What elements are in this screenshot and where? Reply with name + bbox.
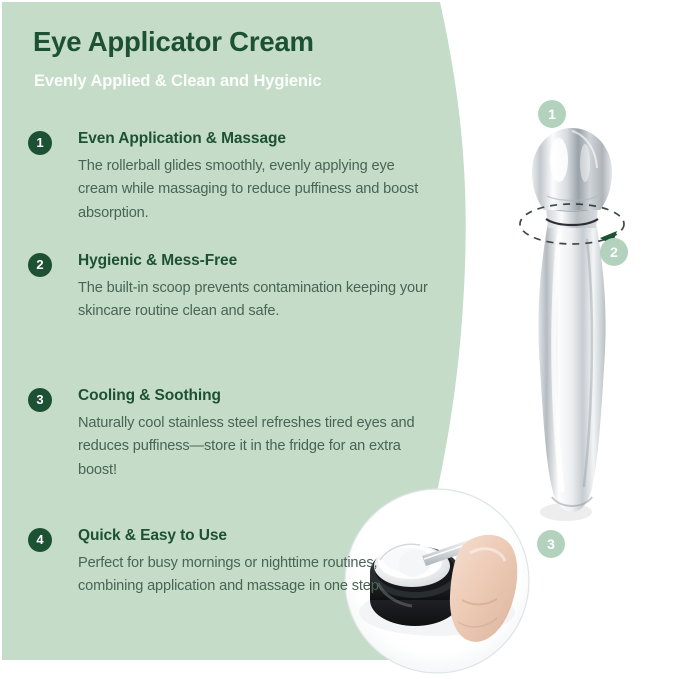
feature-number-badge-2: 2 (28, 253, 52, 277)
feature-heading-4: Quick & Easy to Use (78, 527, 428, 545)
feature-item-2: 2 Hygienic & Mess-Free The built-in scoo… (28, 252, 428, 324)
product-callout-3: 3 (537, 530, 565, 558)
feature-item-3: 3 Cooling & Soothing Naturally cool stai… (28, 387, 428, 483)
applicator-wand (532, 128, 612, 512)
feature-heading-1: Even Application & Massage (78, 130, 428, 148)
feature-body-2: The built-in scoop prevents contaminatio… (78, 277, 428, 324)
feature-heading-2: Hygienic & Mess-Free (78, 252, 428, 270)
feature-body-4: Perfect for busy mornings or nighttime r… (78, 552, 428, 599)
feature-item-4: 4 Quick & Easy to Use Perfect for busy m… (28, 527, 428, 599)
feature-body-1: The rollerball glides smoothly, evenly a… (78, 155, 428, 226)
feature-item-1: 1 Even Application & Massage The rollerb… (28, 130, 428, 226)
product-callout-1: 1 (538, 100, 566, 128)
page-title: Eye Applicator Cream (33, 26, 314, 58)
feature-heading-3: Cooling & Soothing (78, 387, 428, 405)
feature-number-badge-1: 1 (28, 131, 52, 155)
feature-body-3: Naturally cool stainless steel refreshes… (78, 412, 428, 483)
feature-number-badge-3: 3 (28, 388, 52, 412)
infographic-page: Eye Applicator Cream Evenly Applied & Cl… (0, 0, 679, 679)
feature-list: Eye Applicator Cream Evenly Applied & Cl… (0, 0, 440, 679)
feature-number-badge-4: 4 (28, 528, 52, 552)
product-callout-2: 2 (600, 238, 628, 266)
page-subtitle: Evenly Applied & Clean and Hygienic (34, 72, 321, 91)
